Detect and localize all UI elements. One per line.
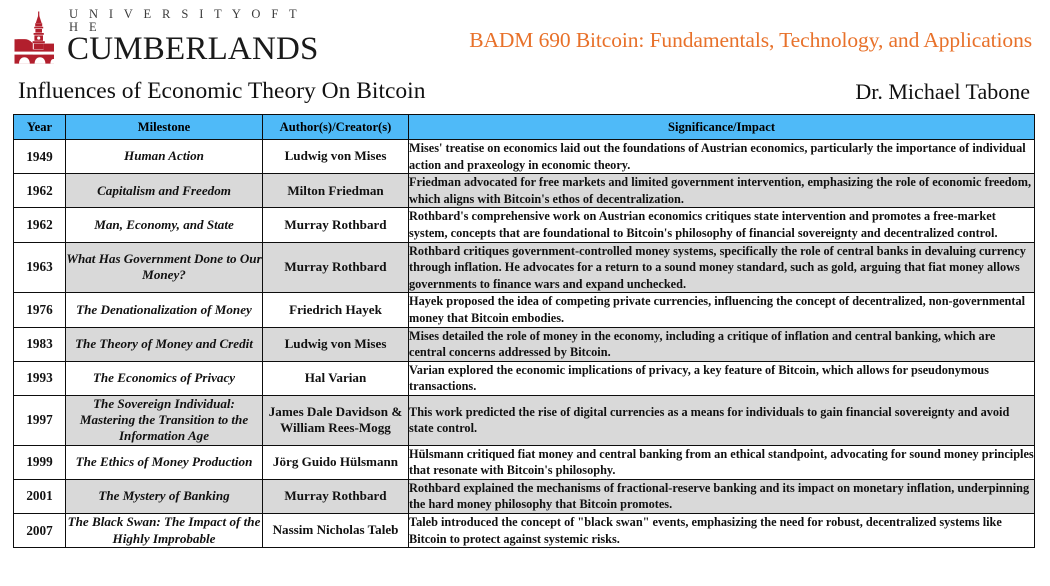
cell-milestone: The Sovereign Individual: Mastering the … xyxy=(66,395,263,445)
table-row: 1999The Ethics of Money ProductionJörg G… xyxy=(14,445,1035,479)
cell-year: 1962 xyxy=(14,174,66,208)
cell-author: Nassim Nicholas Taleb xyxy=(263,513,409,547)
course-title: BADM 690 Bitcoin: Fundamentals, Technolo… xyxy=(469,28,1032,53)
milestones-table: Year Milestone Author(s)/Creator(s) Sign… xyxy=(13,114,1035,548)
cell-significance: Rothbard's comprehensive work on Austria… xyxy=(409,208,1035,242)
cell-significance: Rothbard explained the mechanisms of fra… xyxy=(409,479,1035,513)
cell-author: Hal Varian xyxy=(263,361,409,395)
cell-author: Murray Rothbard xyxy=(263,479,409,513)
column-header-year: Year xyxy=(14,115,66,140)
cumberlands-tower-bridge-logo-icon xyxy=(12,10,58,64)
cell-significance: Rothbard critiques government-controlled… xyxy=(409,242,1035,293)
page-title: Influences of Economic Theory On Bitcoin xyxy=(18,78,425,105)
cell-significance: Mises' treatise on economics laid out th… xyxy=(409,140,1035,174)
cell-milestone: Man, Economy, and State xyxy=(66,208,263,242)
cell-year: 1949 xyxy=(14,140,66,174)
milestones-table-container: Year Milestone Author(s)/Creator(s) Sign… xyxy=(13,114,1034,548)
cell-significance: This work predicted the rise of digital … xyxy=(409,395,1035,445)
cell-milestone: The Mystery of Banking xyxy=(66,479,263,513)
cell-significance: Hülsmann critiqued fiat money and centra… xyxy=(409,445,1035,479)
table-row: 1962Man, Economy, and StateMurray Rothba… xyxy=(14,208,1035,242)
table-row: 1949Human ActionLudwig von MisesMises' t… xyxy=(14,140,1035,174)
table-row: 1993The Economics of PrivacyHal VarianVa… xyxy=(14,361,1035,395)
cell-author: Milton Friedman xyxy=(263,174,409,208)
cell-author: Ludwig von Mises xyxy=(263,140,409,174)
cell-year: 1999 xyxy=(14,445,66,479)
table-row: 1997The Sovereign Individual: Mastering … xyxy=(14,395,1035,445)
cell-milestone: The Black Swan: The Impact of the Highly… xyxy=(66,513,263,547)
cell-milestone: Capitalism and Freedom xyxy=(66,174,263,208)
cell-milestone: The Economics of Privacy xyxy=(66,361,263,395)
university-logo: U N I V E R S I T Y O F T H E CUMBERLAND… xyxy=(12,9,312,65)
cell-author: James Dale Davidson & William Rees-Mogg xyxy=(263,395,409,445)
column-header-author: Author(s)/Creator(s) xyxy=(263,115,409,140)
cell-year: 1963 xyxy=(14,242,66,293)
cell-significance: Mises detailed the role of money in the … xyxy=(409,327,1035,361)
column-header-significance: Significance/Impact xyxy=(409,115,1035,140)
cell-year: 2007 xyxy=(14,513,66,547)
table-header-row: Year Milestone Author(s)/Creator(s) Sign… xyxy=(14,115,1035,140)
cell-author: Murray Rothbard xyxy=(263,208,409,242)
cell-year: 2001 xyxy=(14,479,66,513)
cell-significance: Friedman advocated for free markets and … xyxy=(409,174,1035,208)
cell-author: Friedrich Hayek xyxy=(263,293,409,327)
cell-milestone: The Theory of Money and Credit xyxy=(66,327,263,361)
cell-author: Jörg Guido Hülsmann xyxy=(263,445,409,479)
cell-significance: Taleb introduced the concept of "black s… xyxy=(409,513,1035,547)
instructor-name: Dr. Michael Tabone xyxy=(855,79,1030,105)
cell-milestone: The Ethics of Money Production xyxy=(66,445,263,479)
cell-milestone: The Denationalization of Money xyxy=(66,293,263,327)
column-header-milestone: Milestone xyxy=(66,115,263,140)
table-row: 2001The Mystery of BankingMurray Rothbar… xyxy=(14,479,1035,513)
table-row: 1963What Has Government Done to Our Mone… xyxy=(14,242,1035,293)
university-wordmark: U N I V E R S I T Y O F T H E CUMBERLAND… xyxy=(67,8,319,65)
cell-significance: Hayek proposed the idea of competing pri… xyxy=(409,293,1035,327)
table-row: 1983The Theory of Money and CreditLudwig… xyxy=(14,327,1035,361)
cell-year: 1976 xyxy=(14,293,66,327)
wordmark-line-1: U N I V E R S I T Y O F T H E xyxy=(69,8,319,33)
cell-author: Murray Rothbard xyxy=(263,242,409,293)
table-row: 1962Capitalism and FreedomMilton Friedma… xyxy=(14,174,1035,208)
milestones-table-body: 1949Human ActionLudwig von MisesMises' t… xyxy=(14,140,1035,548)
cell-year: 1997 xyxy=(14,395,66,445)
table-row: 2007The Black Swan: The Impact of the Hi… xyxy=(14,513,1035,547)
cell-year: 1983 xyxy=(14,327,66,361)
cell-milestone: Human Action xyxy=(66,140,263,174)
slide-header: U N I V E R S I T Y O F T H E CUMBERLAND… xyxy=(0,0,1050,110)
table-row: 1976The Denationalization of MoneyFriedr… xyxy=(14,293,1035,327)
cell-milestone: What Has Government Done to Our Money? xyxy=(66,242,263,293)
cell-year: 1993 xyxy=(14,361,66,395)
wordmark-line-2: CUMBERLANDS xyxy=(67,34,319,65)
cell-author: Ludwig von Mises xyxy=(263,327,409,361)
cell-year: 1962 xyxy=(14,208,66,242)
cell-significance: Varian explored the economic implication… xyxy=(409,361,1035,395)
